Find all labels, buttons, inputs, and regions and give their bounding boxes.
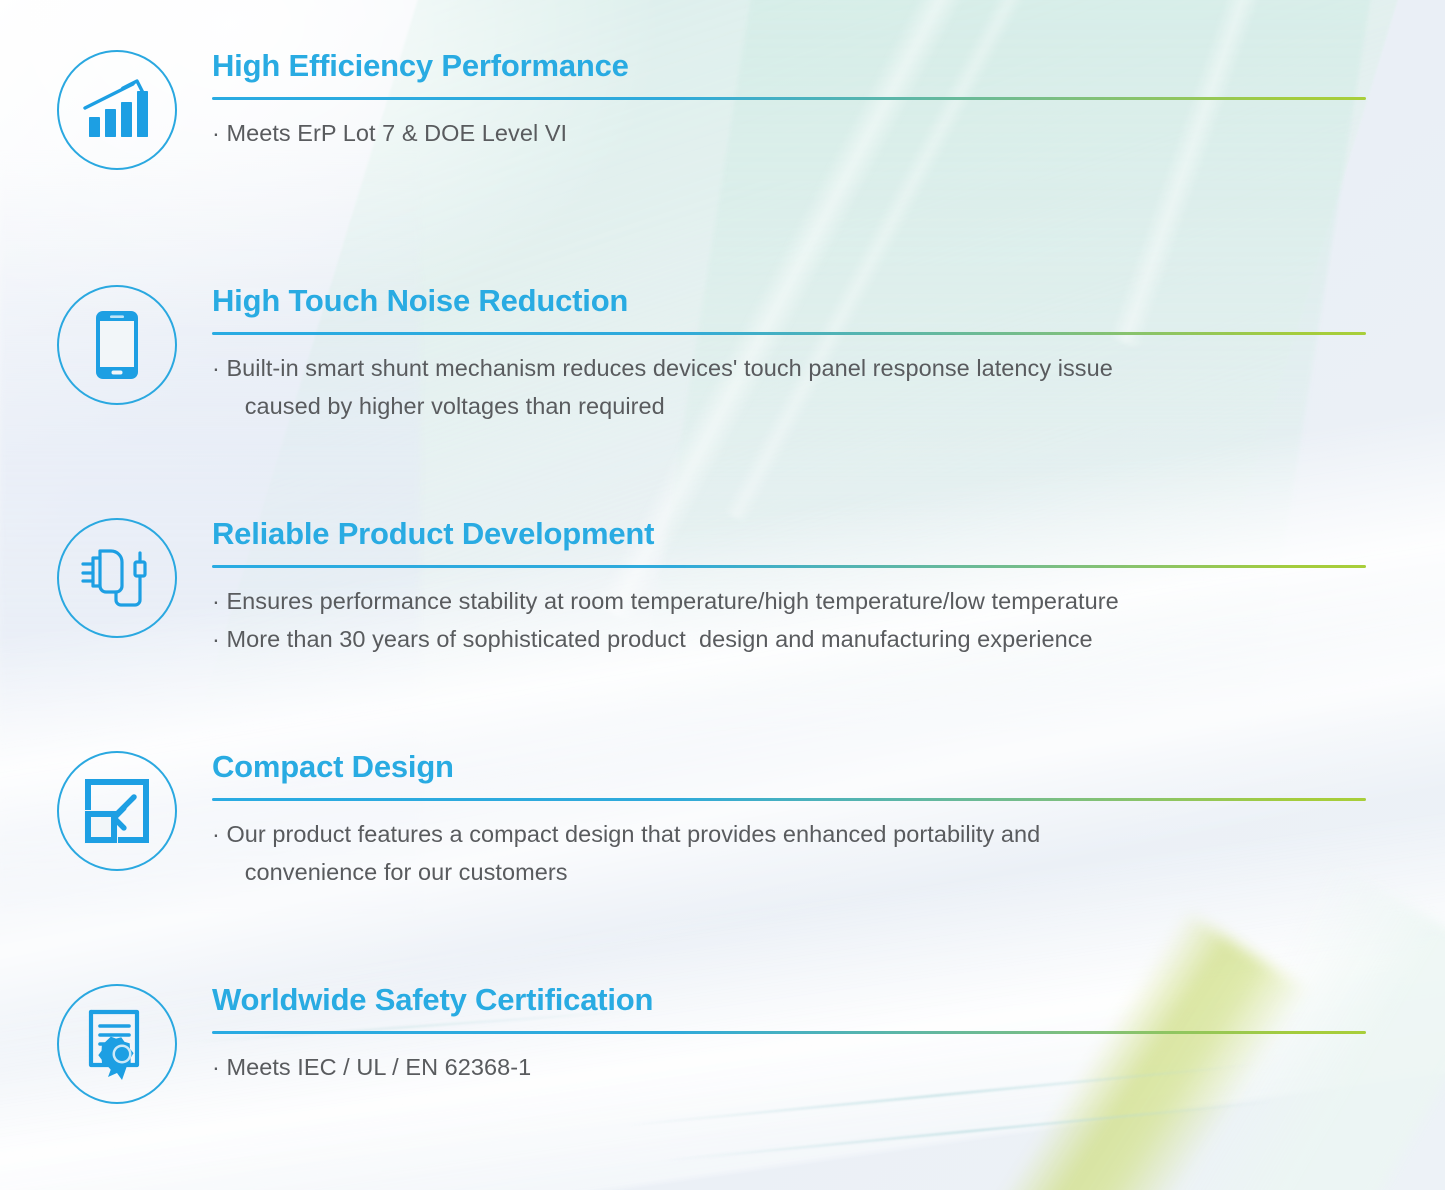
feature-body: Reliable Product Development · Ensures p… — [212, 518, 1372, 658]
feature-icon-wrap — [57, 50, 177, 170]
feature-divider — [212, 565, 1366, 568]
feature-divider — [212, 1031, 1366, 1034]
feature-bullet: · More than 30 years of sophisticated pr… — [212, 620, 1372, 658]
compact-resize-icon — [57, 751, 177, 871]
feature-icon-wrap — [57, 518, 177, 638]
feature-list: High Efficiency Performance · Meets ErP … — [0, 0, 1445, 1190]
bar-chart-growth-icon — [57, 50, 177, 170]
feature-divider — [212, 798, 1366, 801]
smartphone-icon — [57, 285, 177, 405]
feature-body: Compact Design · Our product features a … — [212, 751, 1372, 891]
feature-title: Compact Design — [212, 751, 1372, 784]
feature-bullet: · Built-in smart shunt mechanism reduces… — [212, 349, 1372, 426]
feature-bullets: · Meets ErP Lot 7 & DOE Level VI — [212, 114, 1372, 152]
feature-body: High Efficiency Performance · Meets ErP … — [212, 50, 1372, 152]
feature-body: High Touch Noise Reduction · Built-in sm… — [212, 285, 1372, 425]
feature-bullet: · Meets ErP Lot 7 & DOE Level VI — [212, 114, 1372, 152]
feature-bullets: · Meets IEC / UL / EN 62368-1 — [212, 1048, 1372, 1086]
feature-body: Worldwide Safety Certification · Meets I… — [212, 984, 1372, 1086]
feature-bullets: · Ensures performance stability at room … — [212, 582, 1372, 659]
feature-bullet: · Meets IEC / UL / EN 62368-1 — [212, 1048, 1372, 1086]
feature-divider — [212, 97, 1366, 100]
certificate-award-icon — [57, 984, 177, 1104]
feature-icon-wrap — [57, 751, 177, 871]
power-adapter-icon — [57, 518, 177, 638]
feature-divider — [212, 332, 1366, 335]
feature-title: Reliable Product Development — [212, 518, 1372, 551]
feature-title: High Touch Noise Reduction — [212, 285, 1372, 318]
feature-title: High Efficiency Performance — [212, 50, 1372, 83]
feature-icon-wrap — [57, 285, 177, 405]
feature-bullets: · Our product features a compact design … — [212, 815, 1372, 892]
feature-bullets: · Built-in smart shunt mechanism reduces… — [212, 349, 1372, 426]
feature-bullet: · Ensures performance stability at room … — [212, 582, 1372, 620]
feature-title: Worldwide Safety Certification — [212, 984, 1372, 1017]
feature-icon-wrap — [57, 984, 177, 1104]
feature-bullet: · Our product features a compact design … — [212, 815, 1372, 892]
